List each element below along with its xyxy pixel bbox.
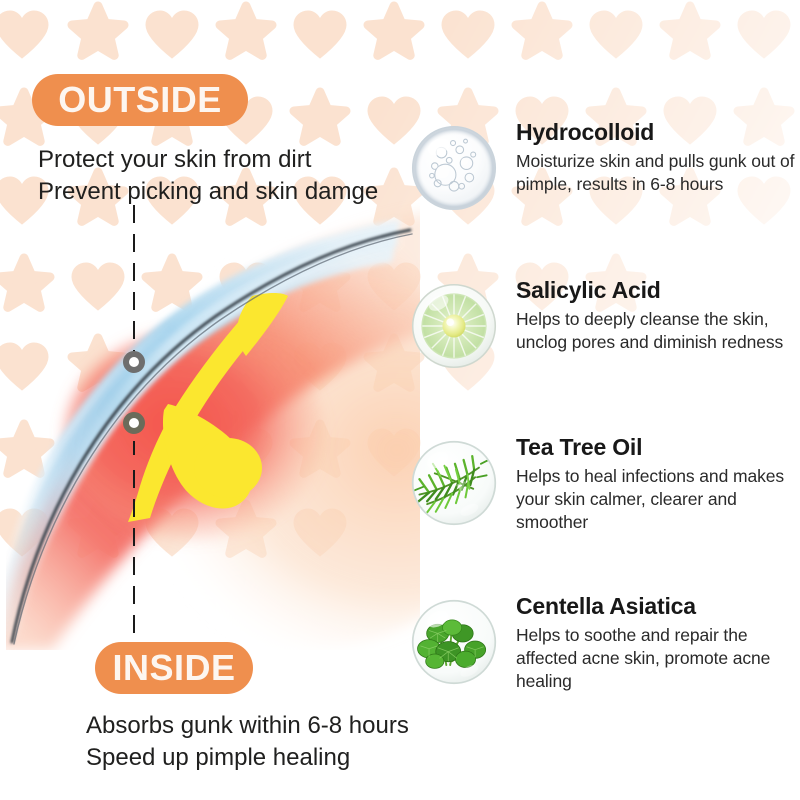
ingredient-text: Centella Asiatica Helps to soothe and re… bbox=[502, 592, 800, 694]
ingredient-text: Hydrocolloid Moisturize skin and pulls g… bbox=[502, 118, 800, 196]
skin-cross-section-illustration bbox=[0, 200, 420, 650]
ingredient-title: Tea Tree Oil bbox=[516, 435, 800, 461]
ingredient-text: Salicylic Acid Helps to deeply cleanse t… bbox=[502, 276, 800, 354]
list-item: Hydrocolloid Moisturize skin and pulls g… bbox=[400, 118, 800, 216]
list-item: Salicylic Acid Helps to deeply cleanse t… bbox=[400, 276, 800, 374]
ingredient-description: Helps to deeply cleanse the skin, unclog… bbox=[516, 308, 800, 355]
marker-inside-point bbox=[123, 412, 145, 434]
ingredient-description: Helps to soothe and repair the affected … bbox=[516, 624, 800, 694]
badge-inside: INSIDE bbox=[95, 642, 253, 694]
salicylic-acid-sphere-icon bbox=[406, 278, 502, 374]
infographic-page: OUTSIDE Protect your skin from dirt Prev… bbox=[0, 0, 800, 800]
ingredient-title: Centella Asiatica bbox=[516, 594, 800, 620]
badge-outside: OUTSIDE bbox=[32, 74, 248, 126]
centella-asiatica-leaves-icon bbox=[406, 594, 502, 690]
ingredient-text: Tea Tree Oil Helps to heal infections an… bbox=[502, 433, 800, 535]
ingredient-description: Moisturize skin and pulls gunk out of pi… bbox=[516, 150, 800, 197]
list-item: Centella Asiatica Helps to soothe and re… bbox=[400, 592, 800, 694]
ingredient-description: Helps to heal infections and makes your … bbox=[516, 465, 800, 535]
badge-outside-label: OUTSIDE bbox=[58, 79, 222, 121]
ingredient-title: Hydrocolloid bbox=[516, 120, 800, 146]
tea-tree-sprig-icon bbox=[406, 435, 502, 531]
ingredient-list: Hydrocolloid Moisturize skin and pulls g… bbox=[400, 0, 800, 800]
list-item: Tea Tree Oil Helps to heal infections an… bbox=[400, 433, 800, 535]
outside-description: Protect your skin from dirt Prevent pick… bbox=[38, 144, 418, 207]
hydrocolloid-gel-bubble-icon bbox=[406, 120, 502, 216]
badge-inside-label: INSIDE bbox=[112, 647, 235, 689]
ingredient-title: Salicylic Acid bbox=[516, 278, 800, 304]
marker-outside-point bbox=[123, 351, 145, 373]
